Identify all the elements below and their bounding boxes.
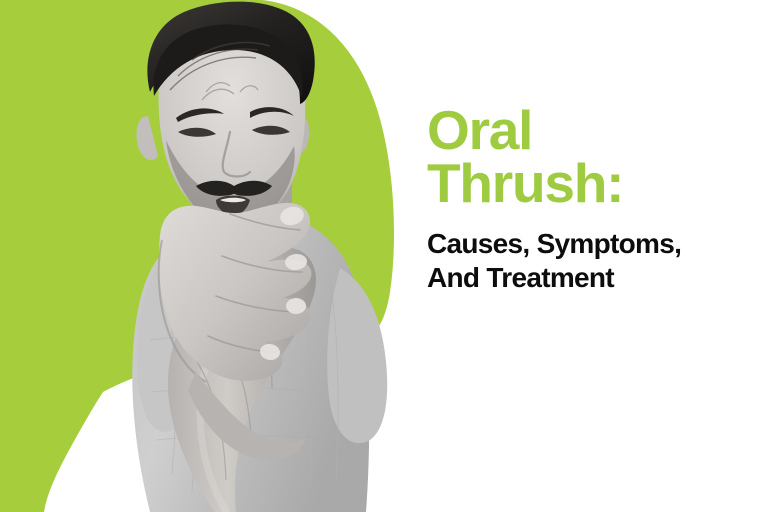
oral-thrush-banner: Oral Thrush: Causes, Symptoms, And Treat…: [0, 0, 770, 512]
text-block: Oral Thrush: Causes, Symptoms, And Treat…: [427, 104, 747, 295]
page-title: Oral Thrush:: [427, 104, 747, 210]
man-photo: [0, 0, 420, 512]
page-subtitle: Causes, Symptoms, And Treatment: [427, 227, 747, 295]
